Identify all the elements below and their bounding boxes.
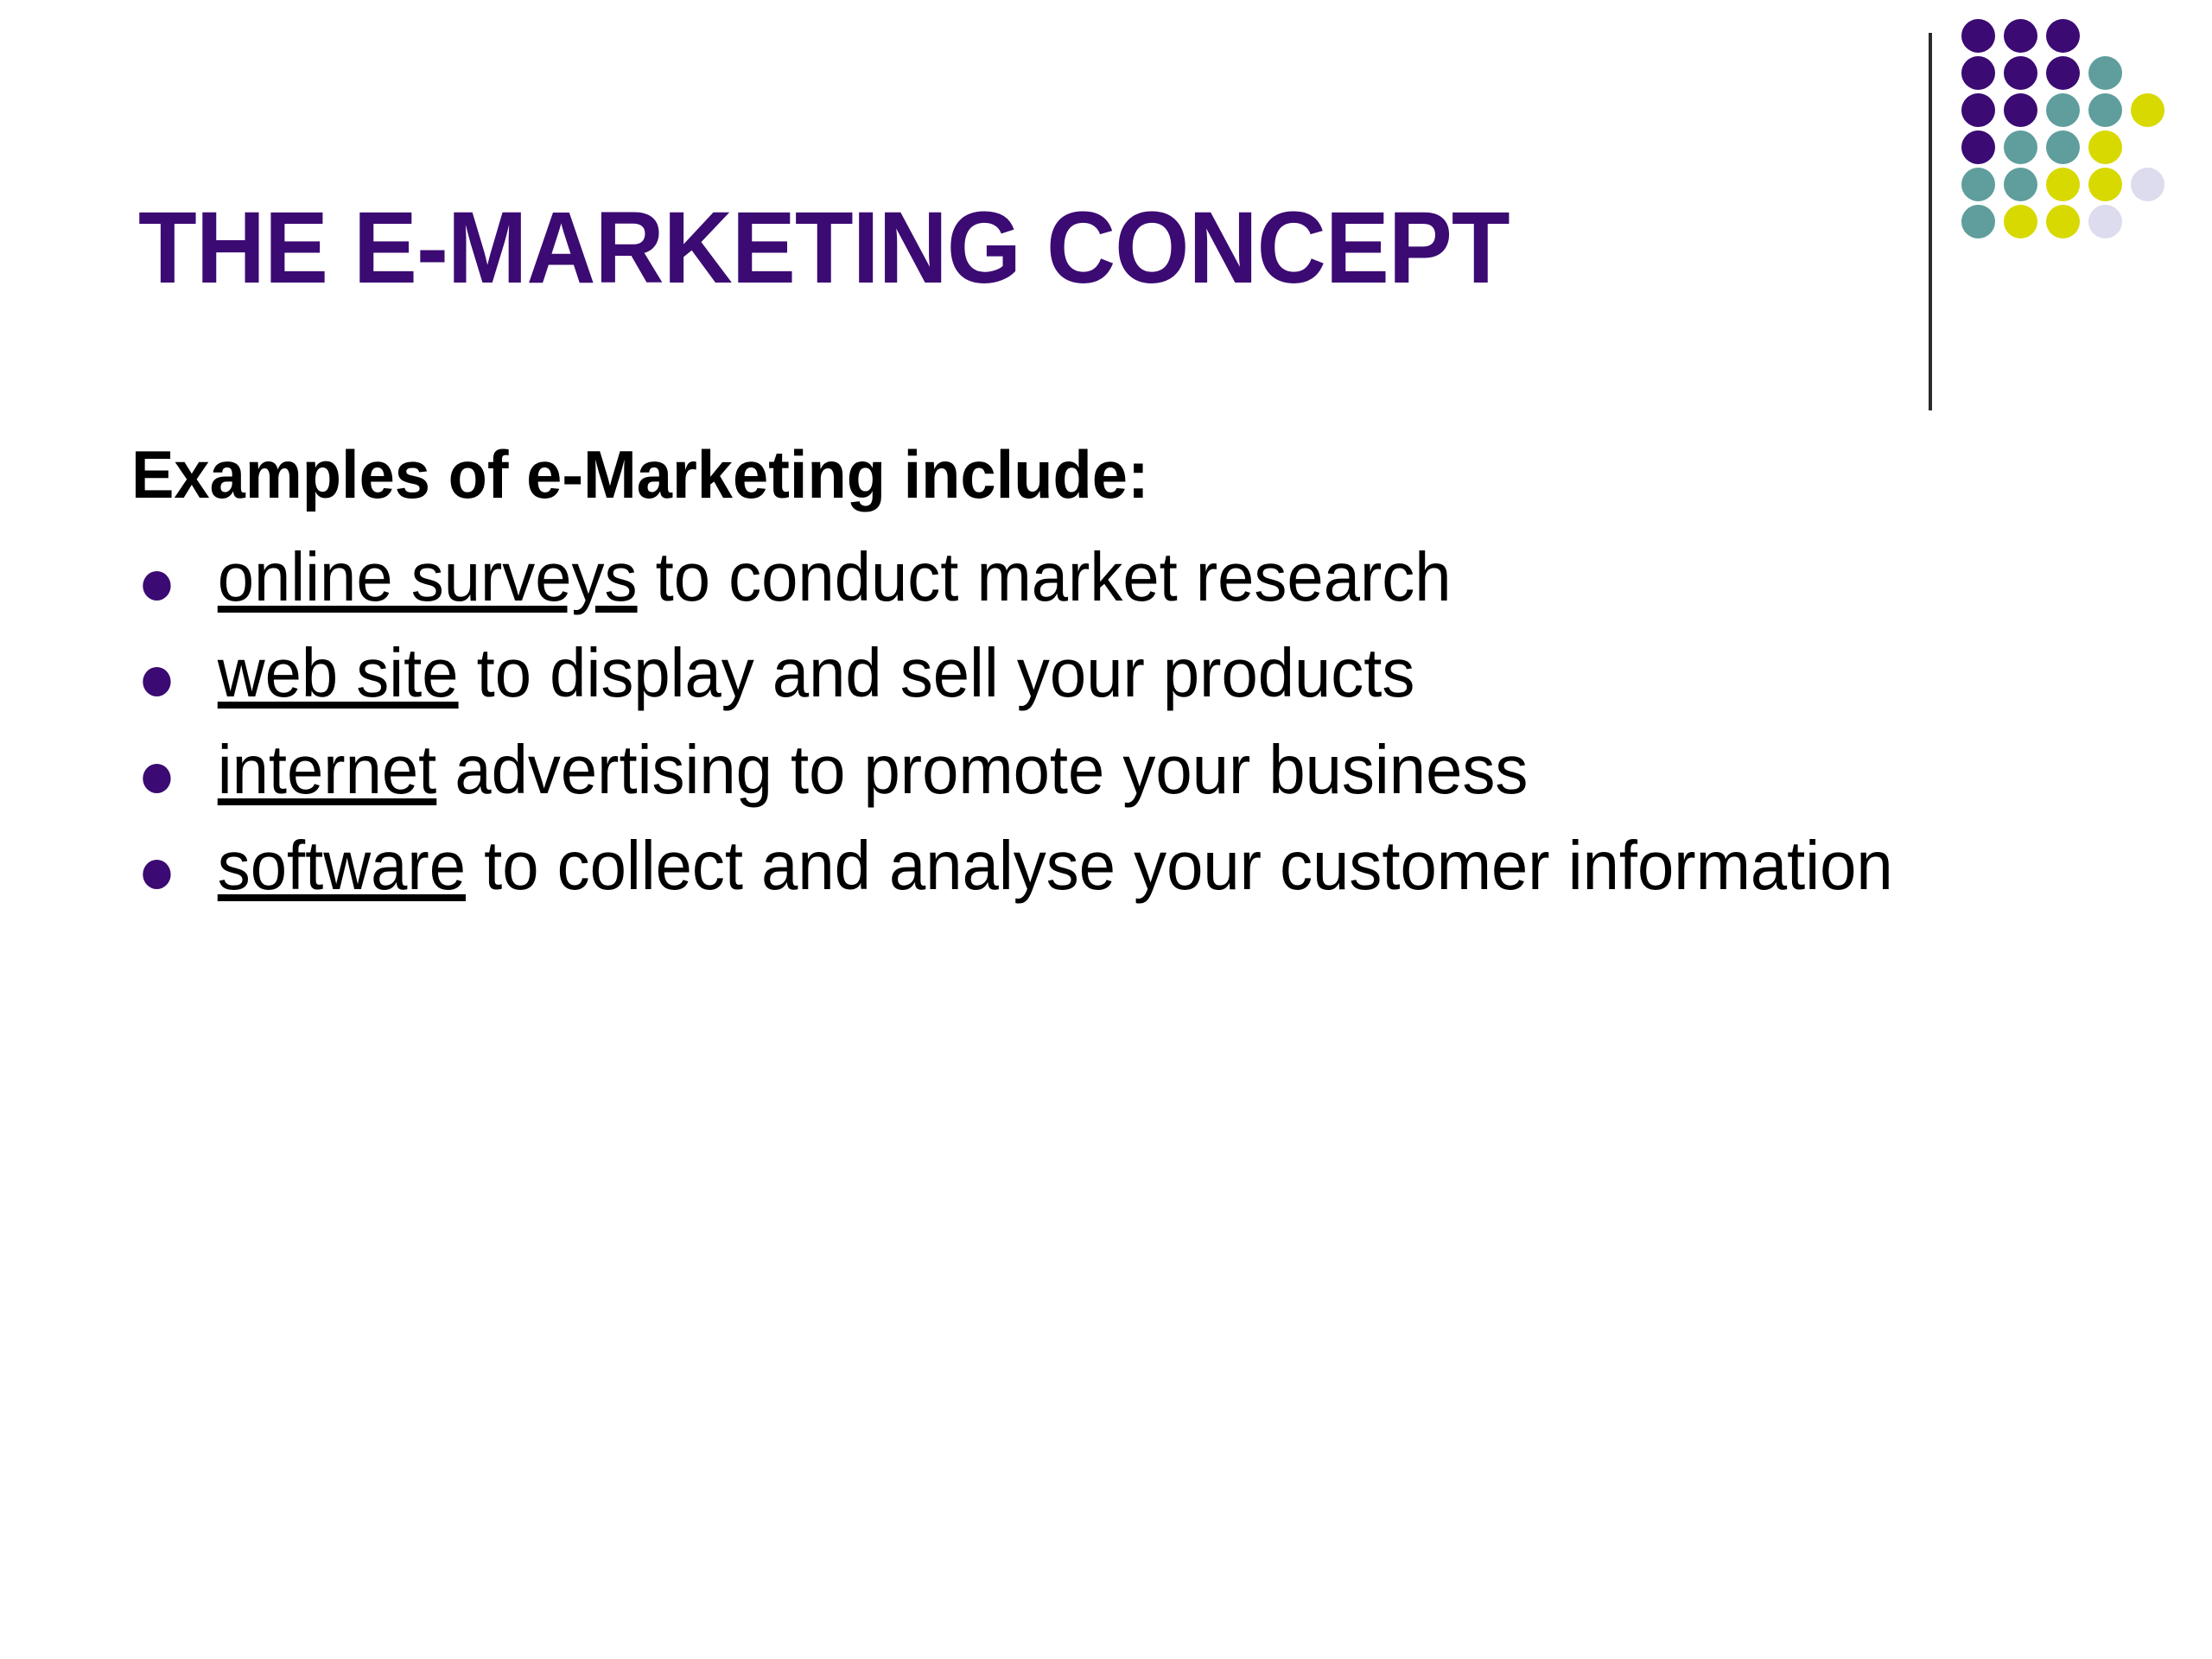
dot-placeholder [2131,56,2164,90]
vertical-divider-line [1929,33,1932,410]
dot-lavender-icon [2131,168,2164,201]
logo-block [1914,0,2212,432]
bullet-point-icon [143,571,170,601]
dot-yellow-icon [2088,168,2122,201]
bullet-body-text: to conduct market research [638,538,1452,615]
dot-purple-icon [2004,93,2037,127]
dot-teal-icon [1961,205,1995,238]
bullet-body-text: to display and sell your products [459,634,1415,711]
bullet-item: internet advertising to promote your bus… [131,728,2036,812]
dot-grid-row [1961,205,2173,242]
bullet-emphasis-text: internet [218,731,437,808]
dot-purple-icon [2046,56,2080,90]
bullet-point-icon [143,860,170,889]
bullet-point-icon [143,764,170,793]
dot-teal-icon [2046,93,2080,127]
dot-lavender-icon [2088,205,2122,238]
dot-purple-icon [1961,19,1995,53]
dot-teal-icon [1961,168,1995,201]
dot-placeholder [2131,205,2164,238]
bullet-item: software to collect and analyse your cus… [131,823,2036,908]
bullet-body-text: to collect and analyse your customer inf… [466,827,1893,904]
dot-grid-row [1961,168,2173,205]
dot-teal-icon [2004,168,2037,201]
dot-grid-row [1961,56,2173,93]
dot-placeholder [2131,19,2164,53]
dot-grid-row [1961,19,2173,56]
dot-teal-icon [2004,130,2037,164]
dot-purple-icon [2004,56,2037,90]
bullet-item: online surveys to conduct market researc… [131,535,2036,620]
dot-teal-icon [2088,93,2122,127]
dot-purple-icon [2046,19,2080,53]
dot-purple-icon [1961,130,1995,164]
dot-grid-row [1961,130,2173,168]
dot-grid-logo-icon [1961,19,2173,242]
dot-yellow-icon [2131,93,2164,127]
dot-yellow-icon [2046,205,2080,238]
slide-title: THE E-MARKETING CONCEPT [138,197,1510,299]
dot-yellow-icon [2004,205,2037,238]
slide-body: Examples of e-Marketing include: online … [131,439,2136,920]
bullet-list: online surveys to conduct market researc… [131,535,2136,908]
dot-yellow-icon [2088,130,2122,164]
dot-purple-icon [1961,93,1995,127]
dot-grid-row [1961,93,2173,130]
dot-purple-icon [1961,56,1995,90]
bullet-item: web site to display and sell your produc… [131,631,2036,715]
body-lead-text: Examples of e-Marketing include: [131,439,2036,511]
bullet-emphasis-text: web site [218,634,459,711]
dot-placeholder [2131,130,2164,164]
bullet-point-icon [143,667,170,696]
dot-placeholder [2088,19,2122,53]
dot-teal-icon [2088,56,2122,90]
bullet-emphasis-text: software [218,827,466,904]
dot-yellow-icon [2046,168,2080,201]
slide-canvas: THE E-MARKETING CONCEPT Examples of e-Ma… [0,0,2212,1659]
dot-purple-icon [2004,19,2037,53]
dot-teal-icon [2046,130,2080,164]
bullet-body-text: advertising to promote your business [436,731,1528,808]
bullet-emphasis-text: online surveys [218,538,638,615]
